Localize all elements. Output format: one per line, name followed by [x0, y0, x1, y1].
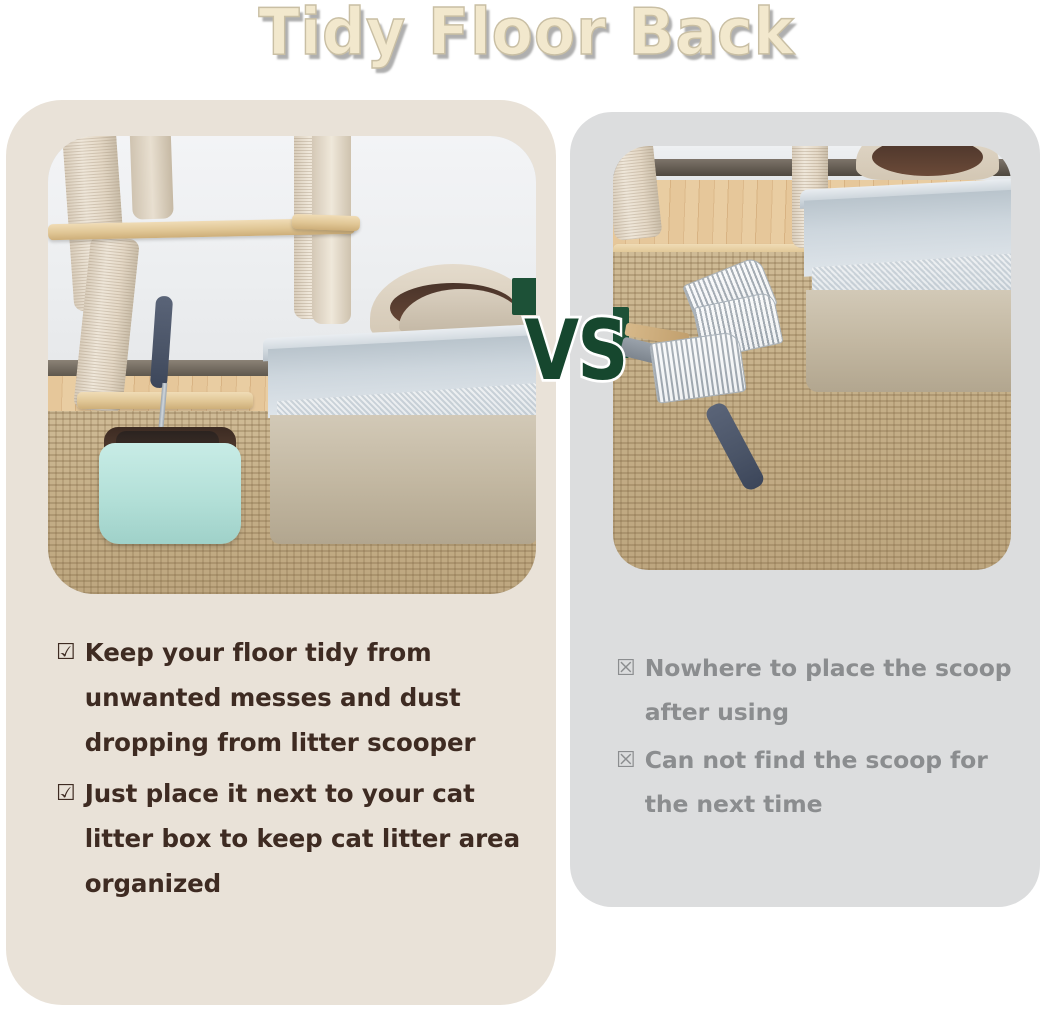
right-photo-scene: [613, 146, 1011, 570]
litter-box-body: [806, 290, 1011, 392]
cat-tree-shelf: [292, 214, 361, 231]
checked-box-icon: ☑: [56, 630, 76, 675]
scooper-holder: [99, 443, 241, 544]
list-item-label: Keep your floor tidy from unwanted messe…: [85, 630, 526, 765]
list-item-label: Nowhere to place the scoop after using: [645, 646, 1016, 734]
list-item-label: Just place it next to your cat litter bo…: [85, 771, 526, 906]
list-item: ☑ Just place it next to your cat litter …: [56, 771, 526, 906]
crossed-box-icon: ☒: [616, 646, 636, 691]
crossed-box-icon: ☒: [616, 738, 636, 783]
wood-post: [129, 136, 174, 219]
litter-box-body: [270, 415, 536, 543]
right-drawback-list: ☒ Nowhere to place the scoop after using…: [616, 646, 1016, 830]
litter-scoop-front: [649, 331, 746, 404]
checked-box-icon: ☑: [56, 771, 76, 816]
list-item-label: Can not find the scoop for the next time: [645, 738, 1016, 826]
list-item: ☒ Nowhere to place the scoop after using: [616, 646, 1016, 734]
list-item: ☒ Can not find the scoop for the next ti…: [616, 738, 1016, 826]
left-product-photo: [48, 136, 536, 594]
right-product-photo: [613, 146, 1011, 570]
list-item: ☑ Keep your floor tidy from unwanted mes…: [56, 630, 526, 765]
vs-badge: VS: [524, 303, 626, 399]
page-title: Tidy Floor Back: [32, 0, 1022, 70]
left-photo-scene: [48, 136, 536, 594]
left-benefit-list: ☑ Keep your floor tidy from unwanted mes…: [56, 630, 526, 912]
